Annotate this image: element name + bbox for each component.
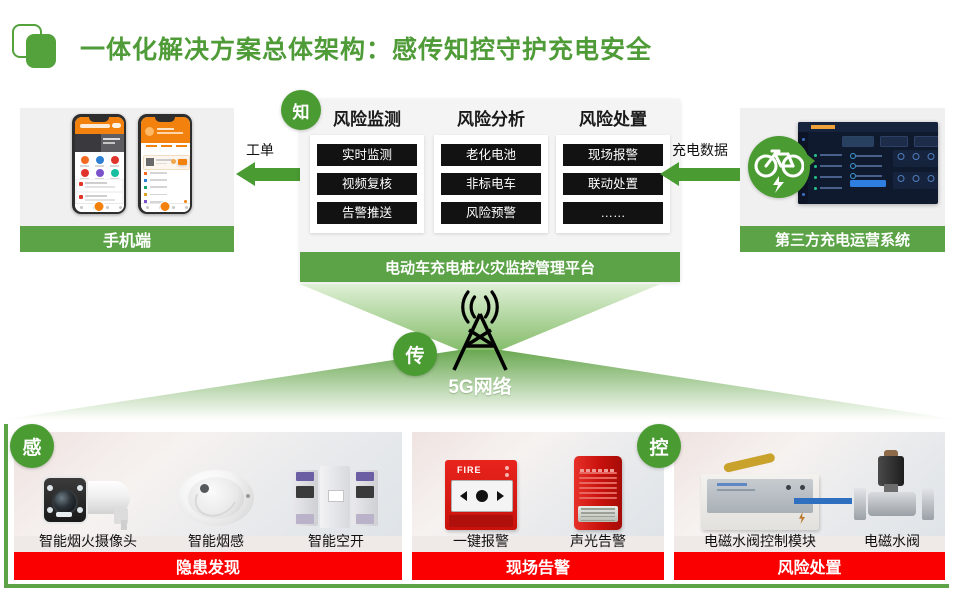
screen-tab (880, 136, 908, 147)
screen-button (850, 180, 886, 187)
badge-chuan: 传 (393, 332, 437, 376)
screen-tab (914, 136, 938, 147)
platform-title-bar: 电动车充电桩火灾监控管理平台 (300, 252, 680, 282)
screen-row (850, 173, 886, 178)
phone-a-screen (75, 117, 124, 212)
charging-data-arrow-label: 充电数据 (672, 140, 728, 160)
network-section: 5G网络 (0, 284, 960, 420)
app-icon-label (80, 165, 89, 167)
chip-item[interactable]: …… (563, 202, 663, 224)
device-call-point: FIRE 一键报警 (426, 460, 536, 552)
device-label: 智能烟火摄像头 (26, 530, 150, 552)
screen-metric (814, 186, 844, 190)
app-icon-label (110, 165, 119, 167)
screen-card (908, 172, 923, 189)
panel-caption: 隐患发现 (14, 552, 402, 580)
diagram-canvas: 一体化解决方案总体架构：感传知控守护充电安全 (0, 0, 960, 600)
badge-gan: 感 (10, 424, 54, 468)
network-title: 5G网络 (0, 372, 960, 399)
screen-card (923, 172, 938, 189)
chip-item[interactable]: 视频复核 (317, 173, 417, 195)
stat-item (161, 145, 172, 147)
stat-item (146, 145, 157, 147)
chip-item[interactable]: 老化电池 (441, 144, 541, 166)
column-title: 风险分析 (434, 107, 548, 132)
valve-control-module-icon (701, 464, 819, 530)
tab-dot (106, 206, 109, 209)
app-icon-label (95, 165, 104, 167)
app-icon (111, 156, 119, 164)
smoke-detector-icon (174, 468, 258, 530)
bottom-panel-onsite-alarm: FIRE 一键报警 声光告警 现场告警 (412, 432, 664, 580)
phone-notch (89, 117, 109, 122)
workorder-arrow-label: 工单 (246, 140, 274, 160)
manual-call-point-icon: FIRE (445, 460, 517, 530)
device-breaker: 智能空开 (282, 464, 390, 552)
device-valve-module: 电磁水阀控制模块 (682, 464, 838, 552)
device-camera: 智能烟火摄像头 (26, 468, 150, 552)
tab-dot (80, 206, 83, 209)
chip-item[interactable]: 联动处置 (563, 173, 663, 195)
bottom-panel-detection: 智能烟火摄像头 智能烟感 智能空开 隐患发现 (14, 432, 402, 580)
bottom-panel-risk-disposal: 电磁水阀控制模块 电磁水阀 风险处置 (674, 432, 945, 580)
screen-card (908, 150, 923, 167)
ebike-charging-icon (748, 136, 810, 198)
column-title: 风险监测 (310, 107, 424, 132)
app-icon (111, 169, 119, 177)
device-label: 一键报警 (426, 530, 536, 552)
third-party-system-label: 第三方充电运营系统 (740, 226, 945, 252)
tab-dot (146, 206, 149, 209)
screen-card (893, 172, 908, 189)
app-icon (81, 169, 89, 177)
screen-metric (814, 175, 844, 179)
third-party-system-card (740, 108, 945, 226)
platform-column-disposal: 风险处置 现场报警 联动处置 …… (556, 107, 670, 233)
device-label: 智能空开 (282, 530, 390, 552)
mobile-client-label: 手机端 (20, 226, 234, 252)
screen-row (850, 153, 886, 158)
device-label: 智能烟感 (162, 530, 270, 552)
badge-kong: 控 (637, 424, 681, 468)
circuit-breaker-icon (290, 464, 382, 530)
device-label: 声光告警 (546, 530, 650, 552)
rounded-squares-logo-icon (12, 24, 64, 72)
security-camera-icon (26, 468, 154, 530)
chip-item[interactable]: 非标电车 (441, 173, 541, 195)
ebike-glyph (748, 136, 810, 198)
panel-caption: 风险处置 (674, 552, 945, 580)
phone-notch (155, 117, 175, 122)
charging-data-arrow-icon (660, 168, 740, 181)
tab-dot (119, 206, 122, 209)
screen-row (850, 163, 886, 168)
solenoid-valve-icon (846, 450, 942, 530)
device-label: 电磁水阀控制模块 (682, 530, 838, 552)
app-icon (96, 169, 104, 177)
stat-item (176, 145, 187, 147)
dashboard-screen-icon (798, 122, 938, 204)
tab-dot (185, 206, 188, 209)
screen-metric (814, 153, 844, 157)
device-label: 电磁水阀 (846, 530, 938, 552)
device-smoke-detector: 智能烟感 (162, 468, 270, 552)
app-icon (96, 156, 104, 164)
cell-tower-icon (428, 280, 532, 374)
page-title: 一体化解决方案总体架构：感传知控守护充电安全 (80, 30, 652, 66)
chip-item[interactable]: 实时监测 (317, 144, 417, 166)
screen-card (923, 150, 938, 167)
sounder-beacon-icon (574, 456, 622, 530)
phone-device-a (72, 114, 126, 214)
panel-caption: 现场告警 (412, 552, 664, 580)
screen-metric (814, 164, 844, 168)
list-item (77, 180, 122, 191)
tab-fab (160, 201, 171, 212)
phone-b-screen (141, 117, 190, 212)
smartphone-pair-icon (20, 108, 234, 220)
tab-fab (94, 201, 105, 212)
chip-item[interactable]: 告警推送 (317, 202, 417, 224)
platform-column-analysis: 风险分析 老化电池 非标电车 风险预警 (434, 107, 548, 233)
chip-item[interactable]: 风险预警 (441, 202, 541, 224)
chip-item[interactable]: 现场报警 (563, 144, 663, 166)
device-solenoid-valve: 电磁水阀 (846, 450, 938, 552)
logo-square-front (26, 34, 56, 68)
app-icon (81, 156, 89, 164)
workorder-arrow-icon (236, 168, 300, 181)
platform-column-monitoring: 风险监测 实时监测 视频复核 告警推送 (310, 107, 424, 233)
phone-device-b (138, 114, 192, 214)
badge-zhi: 知 (281, 90, 321, 130)
tab-dot (172, 206, 175, 209)
device-sounder: 声光告警 (546, 456, 650, 552)
screen-card (893, 150, 908, 167)
column-title: 风险处置 (556, 107, 670, 132)
screen-tab (842, 136, 874, 147)
page-header: 一体化解决方案总体架构：感传知控守护充电安全 (0, 8, 960, 70)
